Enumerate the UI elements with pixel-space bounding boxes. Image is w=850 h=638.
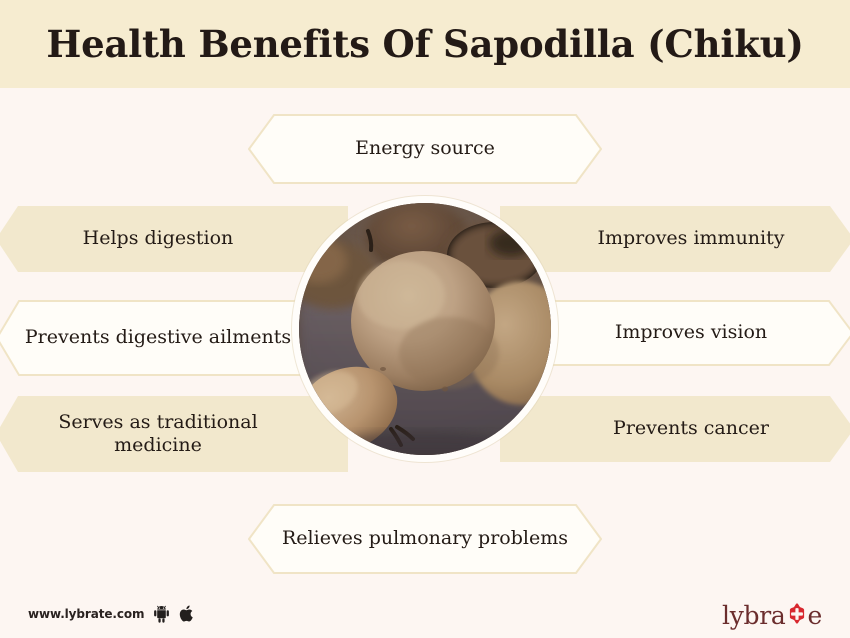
benefit-item-improves-immunity[interactable]: Improves immunity [500,206,850,272]
brand-suffix: e [808,601,823,630]
sapodilla-fruit-photo [299,203,551,455]
benefits-body: Energy source Helps digestion Prevents d… [0,88,850,592]
header-band: Health Benefits Of Sapodilla (Chiku) [0,0,850,88]
apple-icon[interactable] [179,604,195,623]
android-icon[interactable] [153,605,170,623]
benefit-item-prevents-cancer[interactable]: Prevents cancer [500,396,850,462]
footer-bar: www.lybrate.com [0,592,850,638]
lybrate-logo[interactable]: lybra e [722,600,822,630]
benefit-label: Improves immunity [500,227,850,250]
benefit-label: Serves as traditional medicine [0,411,348,457]
benefit-label: Energy source [248,137,602,160]
brand-prefix: lybra [722,601,785,630]
footer-left-group: www.lybrate.com [28,604,195,623]
benefit-label: Helps digestion [0,227,348,250]
benefit-label: Prevents cancer [500,417,850,440]
infographic-poster: Health Benefits Of Sapodilla (Chiku) Ene… [0,0,850,638]
page-title: Health Benefits Of Sapodilla (Chiku) [46,22,803,66]
red-cross-diamond-icon [785,602,809,632]
center-photo-ring [292,196,558,462]
benefit-item-traditional-medicine[interactable]: Serves as traditional medicine [0,396,348,472]
benefit-item-relieves-pulmonary-problems[interactable]: Relieves pulmonary problems [248,504,602,574]
benefit-label: Relieves pulmonary problems [248,527,602,550]
fruit-illustration [299,203,551,455]
benefit-item-helps-digestion[interactable]: Helps digestion [0,206,348,272]
site-url[interactable]: www.lybrate.com [28,607,144,621]
benefit-item-energy-source[interactable]: Energy source [248,114,602,184]
